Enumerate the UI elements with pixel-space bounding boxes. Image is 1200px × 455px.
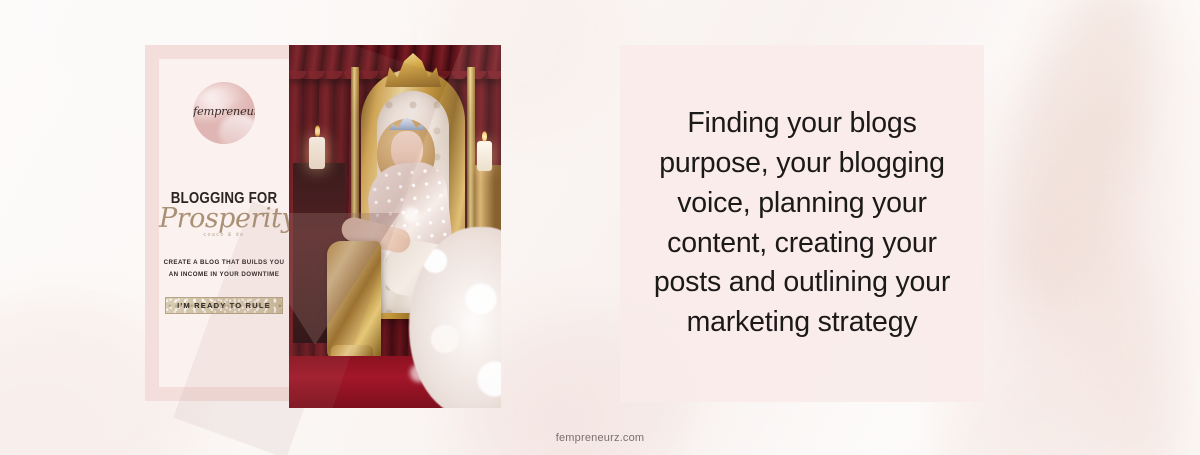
promo-card-inner-panel: fempreneurz BLOGGING FOR Prosperity coac… [159,59,289,387]
logo-wordmark: fempreneurz [193,104,255,118]
throne-photo [289,45,501,408]
promo-headline-top: BLOGGING FOR [168,191,280,207]
promo-card[interactable]: fempreneurz BLOGGING FOR Prosperity coac… [145,45,501,401]
promo-tagline: CREATE A BLOG THAT BUILDS YOU AN INCOME … [160,257,288,281]
quote-box: Finding your blogs purpose, your bloggin… [620,45,984,402]
quote-text: Finding your blogs purpose, your bloggin… [642,104,962,343]
promo-card-text-pane: fempreneurz BLOGGING FOR Prosperity coac… [145,45,289,401]
footer-website-url: fempreneurz.com [0,432,1200,444]
promo-headline-script: Prosperity [159,206,289,232]
marble-vein [977,0,1183,310]
fempreneurz-logo-icon: fempreneurz [193,82,255,144]
ready-to-rule-button[interactable]: I'M READY TO RULE [165,297,283,314]
promo-headline: BLOGGING FOR Prosperity coach & do [159,191,289,238]
marble-vein [1052,204,1198,455]
